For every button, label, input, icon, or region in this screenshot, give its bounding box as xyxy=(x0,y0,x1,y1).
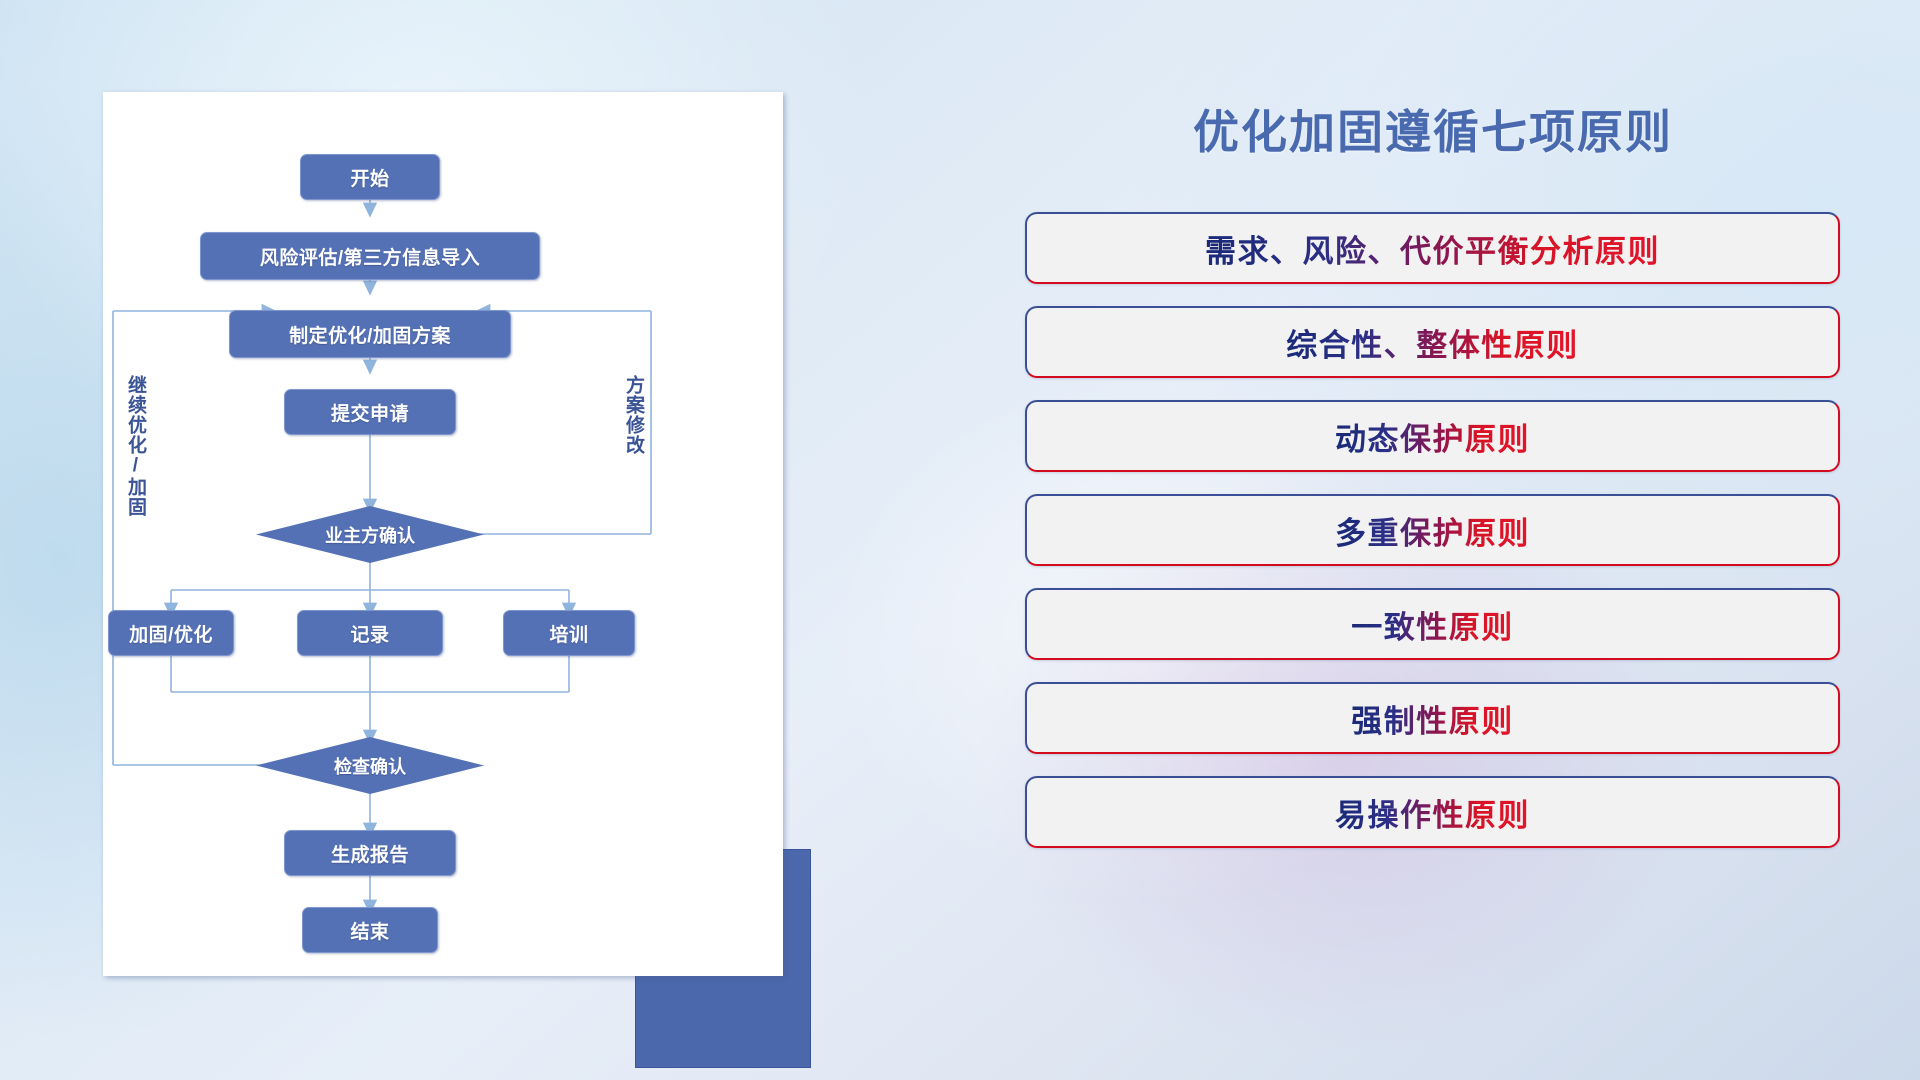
flow-node-training-label: 培训 xyxy=(549,620,588,647)
flow-edge-label-plan-revision: 方案修改 xyxy=(623,375,643,491)
flow-node-make-plan[interactable]: 制定优化/加固方案 xyxy=(229,310,511,358)
list-item[interactable]: 一致性原则 xyxy=(1025,588,1840,660)
list-item[interactable]: 多重保护原则 xyxy=(1025,494,1840,566)
flow-node-risk-assessment[interactable]: 风险评估/第三方信息导入 xyxy=(200,232,540,280)
flow-node-generate-report[interactable]: 生成报告 xyxy=(284,830,456,876)
flowchart-panel: 开始 风险评估/第三方信息导入 制定优化/加固方案 提交申请 业主方确认 加固/… xyxy=(103,92,783,976)
flow-node-risk-assessment-label: 风险评估/第三方信息导入 xyxy=(260,243,480,270)
list-item[interactable]: 综合性、整体性原则 xyxy=(1025,306,1840,378)
list-item[interactable]: 动态保护原则 xyxy=(1025,400,1840,472)
principle-label: 需求、风险、代价平衡分析原则 xyxy=(1205,226,1660,271)
flow-node-reinforce-optimize[interactable]: 加固/优化 xyxy=(108,610,234,656)
flow-node-record-label: 记录 xyxy=(350,620,389,647)
flow-node-reinforce-optimize-label: 加固/优化 xyxy=(129,620,213,647)
flow-node-end[interactable]: 结束 xyxy=(302,907,438,953)
flow-node-owner-confirm-label: 业主方确认 xyxy=(325,522,415,548)
flow-node-submit-application[interactable]: 提交申请 xyxy=(284,389,456,435)
page-title: 优化加固遵循七项原则 xyxy=(1020,96,1840,162)
flow-node-submit-application-label: 提交申请 xyxy=(331,399,409,426)
list-item[interactable]: 易操作性原则 xyxy=(1025,776,1840,848)
principle-label: 动态保护原则 xyxy=(1335,414,1530,459)
principles-list: 需求、风险、代价平衡分析原则 综合性、整体性原则 动态保护原则 多重保护原则 一… xyxy=(1020,212,1840,848)
list-item[interactable]: 需求、风险、代价平衡分析原则 xyxy=(1025,212,1840,284)
flow-node-generate-report-label: 生成报告 xyxy=(331,840,409,867)
principle-label: 综合性、整体性原则 xyxy=(1286,320,1579,365)
flow-node-training[interactable]: 培训 xyxy=(503,610,635,656)
flow-node-end-label: 结束 xyxy=(350,917,389,944)
principles-panel: 优化加固遵循七项原则 需求、风险、代价平衡分析原则 综合性、整体性原则 动态保护… xyxy=(1020,96,1840,848)
flow-node-record[interactable]: 记录 xyxy=(297,610,443,656)
list-item[interactable]: 强制性原则 xyxy=(1025,682,1840,754)
flow-node-start[interactable]: 开始 xyxy=(300,154,440,200)
flow-node-inspection-confirm-label: 检查确认 xyxy=(334,753,406,779)
flow-node-start-label: 开始 xyxy=(350,164,389,191)
principle-label: 多重保护原则 xyxy=(1335,508,1530,553)
principle-label: 强制性原则 xyxy=(1351,696,1514,741)
flowchart-card: 开始 风险评估/第三方信息导入 制定优化/加固方案 提交申请 业主方确认 加固/… xyxy=(103,92,783,976)
principle-label: 易操作性原则 xyxy=(1335,790,1530,835)
principle-label: 一致性原则 xyxy=(1351,602,1514,647)
flow-edge-label-continue-optimize: 继续优化/加固 xyxy=(125,375,145,535)
flow-node-make-plan-label: 制定优化/加固方案 xyxy=(289,321,451,348)
